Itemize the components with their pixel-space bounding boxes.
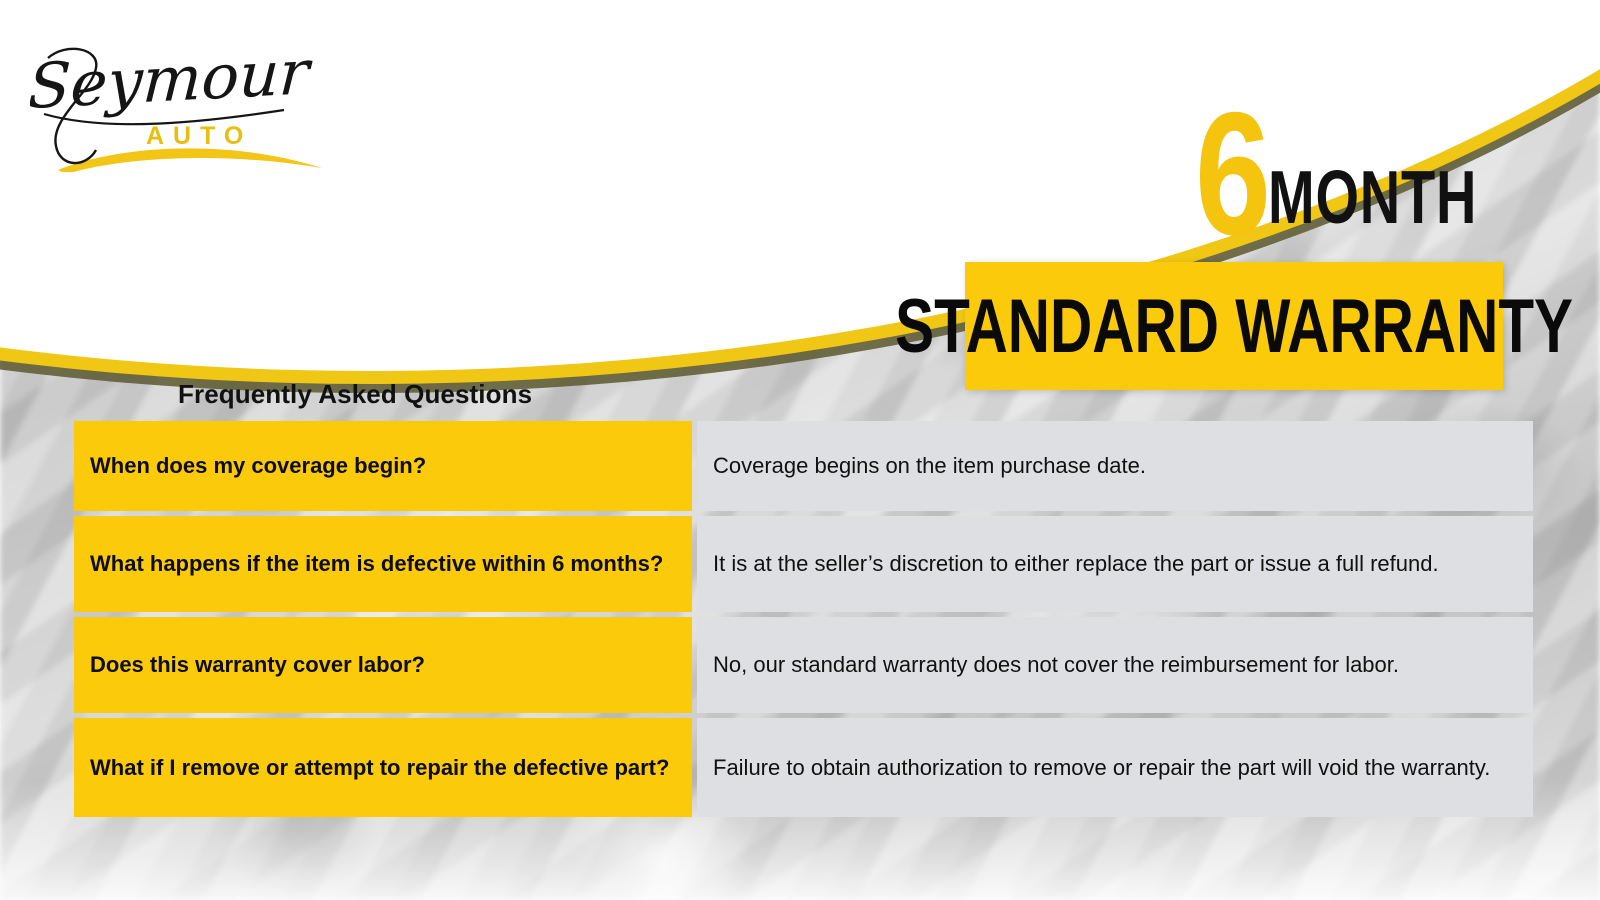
faq-question-cell: What happens if the item is defective wi…	[74, 516, 692, 612]
faq-question-cell: What if I remove or attempt to repair th…	[74, 718, 692, 817]
warranty-slide: Seymour AUTO 6 MONTH STANDARD WARRANTY F…	[0, 0, 1600, 900]
table-row: When does my coverage begin? Coverage be…	[74, 421, 1533, 511]
seymour-auto-logo: Seymour AUTO	[30, 22, 330, 172]
faq-answer-cell: It is at the seller’s discretion to eith…	[697, 516, 1533, 612]
faq-question-cell: Does this warranty cover labor?	[74, 617, 692, 713]
table-row: Does this warranty cover labor? No, our …	[74, 617, 1533, 713]
duration-number: 6	[1195, 101, 1269, 248]
logo-swoosh-icon	[58, 148, 322, 172]
faq-answer-text: It is at the seller’s discretion to eith…	[713, 549, 1511, 579]
faq-heading: Frequently Asked Questions	[178, 379, 532, 410]
faq-answer-text: Coverage begins on the item purchase dat…	[713, 451, 1511, 481]
duration-unit: MONTH	[1268, 159, 1477, 248]
faq-answer-cell: Coverage begins on the item purchase dat…	[697, 421, 1533, 511]
table-row: What if I remove or attempt to repair th…	[74, 718, 1533, 817]
faq-answer-cell: No, our standard warranty does not cover…	[697, 617, 1533, 713]
standard-warranty-banner: STANDARD WARRANTY	[965, 262, 1503, 390]
faq-answer-cell: Failure to obtain authorization to remov…	[697, 718, 1533, 817]
standard-warranty-title: STANDARD WARRANTY	[895, 288, 1573, 364]
faq-question-cell: When does my coverage begin?	[74, 421, 692, 511]
table-row: What happens if the item is defective wi…	[74, 516, 1533, 612]
faq-answer-text: Failure to obtain authorization to remov…	[713, 753, 1511, 783]
logo-auto-text: AUTO	[146, 122, 252, 150]
faq-answer-text: No, our standard warranty does not cover…	[713, 650, 1511, 680]
faq-table: When does my coverage begin? Coverage be…	[74, 421, 1533, 817]
duration-headline: 6 MONTH	[1195, 78, 1530, 248]
logo-svg: Seymour AUTO	[30, 22, 330, 172]
